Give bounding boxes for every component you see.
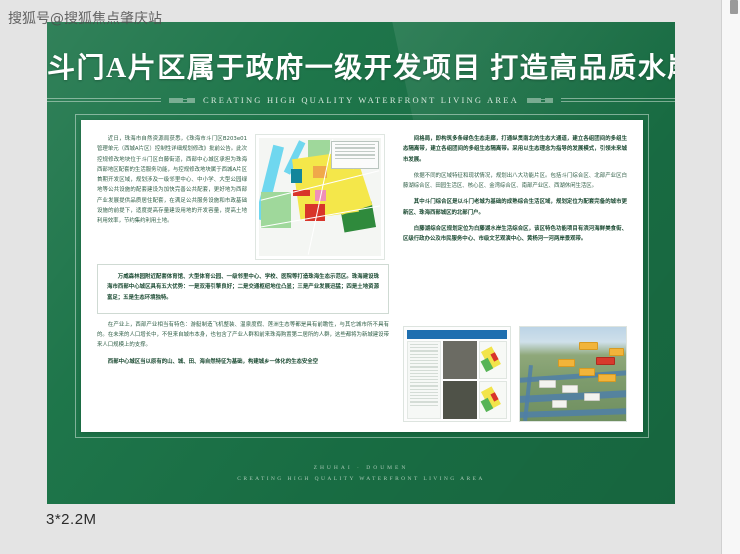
article-columns: 近日，珠海市自然资源局获悉，《珠海市斗门区B203e01管理单元（西城A片区）控… [97, 134, 627, 422]
screenshot-page: 搜狐号@搜狐焦点肇庆站 斗门A片区属于政府一级开发项目 打造高品质水岸生活 CR… [0, 0, 740, 554]
doc-header-band [407, 330, 507, 339]
lead-text: 近日，珠海市自然资源局获悉，《珠海市斗门区B203e01管理单元（西城A片区）控… [97, 134, 247, 260]
scrollbar-thumb[interactable] [730, 0, 738, 14]
planning-announcement-poster [403, 326, 511, 422]
render-label-6 [562, 385, 578, 393]
render-label-8 [552, 400, 567, 408]
lead-row: 近日，珠海市自然资源局获悉，《珠海市斗门区B203e01管理单元（西城A片区）控… [97, 134, 389, 260]
title-divider: CREATING HIGH QUALITY WATERFRONT LIVING … [47, 95, 675, 105]
paragraph-mid-2: 在产业上，西部产业相当有特色：游艇制造飞机整装、温泉度假、莲洲生态等都是具有前瞻… [97, 320, 389, 351]
doc-mini-map-1 [479, 341, 507, 379]
paragraph-right-4: 白藤湖综合区规划定位为白藤湖水岸生活综合区，该区特色功能项目有滨河海鲜美食街、区… [403, 224, 627, 245]
article-left-column: 近日，珠海市自然资源局获悉，《珠海市斗门区B203e01管理单元（西城A片区）控… [97, 134, 389, 422]
render-label-4 [598, 374, 616, 382]
render-label-5 [539, 380, 556, 388]
content-card-inner: 近日，珠海市自然资源局获悉，《珠海市斗门区B203e01管理单元（西城A片区）控… [81, 120, 643, 432]
page-gutter [721, 0, 740, 554]
article-right-column: 间格局，即构筑多条绿色生态走廊，打通纵贯南北的生态大通道，建立各组团间的多组生态… [403, 134, 627, 422]
divider-line-right [561, 97, 675, 103]
poster-footer: ZHUHAI · DOUMEN CREATING HIGH QUALITY WA… [47, 465, 675, 482]
poster-title-chinese: 斗门A片区属于政府一级开发项目 打造高品质水岸生活 [47, 46, 675, 86]
doc-aerial-photo-2 [443, 381, 477, 419]
doc-mini-map-2 [479, 381, 507, 419]
paragraph-right-1: 间格局，即构筑多条绿色生态走廊，打通纵贯南北的生态大通道，建立各组团间的多组生态… [403, 134, 627, 165]
map-legend [331, 141, 379, 169]
paragraph-right-3: 其中斗门综合区是以斗门老城为基础的成熟综合生活区域，规划定位为配套完备的城市更新… [403, 197, 627, 218]
footer-location: ZHUHAI · DOUMEN [47, 465, 675, 471]
footer-tagline: CREATING HIGH QUALITY WATERFRONT LIVING … [47, 476, 675, 482]
image-row [403, 326, 627, 422]
paragraph-mid-1: 万威森林园附近配套体育馆、大型体育公园、一级邻里中心、学校、医院等打造珠海生态示… [107, 272, 379, 303]
paragraph-left-1: 近日，珠海市自然资源局获悉，《珠海市斗门区B203e01管理单元（西城A片区）控… [97, 134, 247, 227]
river-band-3 [519, 408, 627, 418]
doc-text-column [407, 341, 441, 419]
watermark-text: 搜狐号@搜狐焦点肇庆站 [8, 10, 162, 28]
paragraph-mid-3: 西部中心城区当以原有的山、城、田、海自然特征为基础，构建城乡一体化的生态安全空 [97, 357, 389, 367]
content-card: 近日，珠海市自然资源局获悉，《珠海市斗门区B203e01管理单元（西城A片区）控… [81, 120, 643, 432]
promotional-poster: 斗门A片区属于政府一级开发项目 打造高品质水岸生活 CREATING HIGH … [47, 22, 675, 504]
map-canvas [259, 138, 381, 256]
doc-body [407, 341, 507, 419]
poster-title-block: 斗门A片区属于政府一级开发项目 打造高品质水岸生活 CREATING HIGH … [47, 46, 675, 105]
divider-line-left [47, 97, 161, 103]
content-card-frame: 近日，珠海市自然资源局获悉，《珠海市斗门区B203e01管理单元（西城A片区）控… [75, 114, 649, 438]
render-label-7 [584, 393, 601, 401]
divider-bars-right [527, 98, 553, 103]
aerial-masterplan-render [519, 326, 627, 422]
size-label: 3*2.2M [46, 511, 97, 528]
doc-aerial-photo-1 [443, 341, 477, 379]
land-use-zoning-map [255, 134, 385, 260]
render-label-highlight [596, 357, 615, 365]
paragraph-right-2: 依据不同的区域特征和现状情况，规划出八大功能片区。包括斗门综合区、北部产业区白藤… [403, 171, 627, 192]
map-water-body [291, 169, 302, 183]
divider-bars-left [169, 98, 195, 103]
render-label-9 [609, 348, 624, 356]
render-label-3 [579, 368, 595, 376]
doc-map-column [479, 341, 507, 419]
render-label-2 [558, 359, 575, 367]
doc-photo-column [443, 341, 477, 419]
highlight-box: 万威森林园附近配套体育馆、大型体育公园、一级邻里中心、学校、医院等打造珠海生态示… [97, 264, 389, 314]
render-label-1 [579, 342, 598, 350]
poster-title-english: CREATING HIGH QUALITY WATERFRONT LIVING … [203, 95, 519, 105]
